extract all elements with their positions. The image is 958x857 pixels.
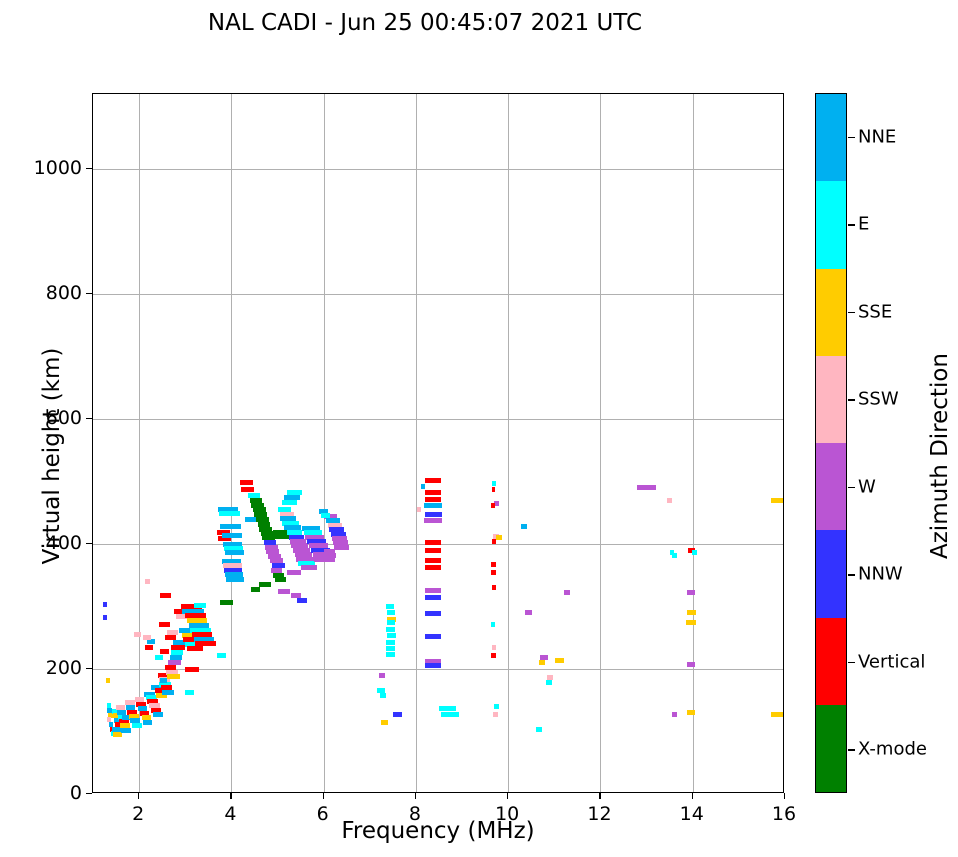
- colorbar-tick-label-ssw: SSW: [858, 389, 899, 410]
- echo-mark: [491, 570, 497, 575]
- echo-mark: [496, 535, 502, 540]
- colorbar-tick: [848, 574, 855, 575]
- colorbar-tick: [848, 137, 855, 138]
- colorbar-tick-label-nne: NNE: [858, 126, 896, 147]
- echo-mark: [380, 693, 386, 698]
- echo-mark: [159, 622, 169, 627]
- echo-mark: [494, 704, 499, 709]
- y-tick-mark: [86, 293, 92, 294]
- echo-mark: [525, 610, 532, 615]
- echo-mark: [491, 562, 497, 567]
- x-axis-label: Frequency (MHz): [92, 818, 784, 844]
- echo-mark: [425, 611, 441, 616]
- echo-mark: [160, 678, 166, 683]
- gridline-horizontal: [93, 419, 783, 420]
- echo-mark: [145, 645, 153, 650]
- gridline-vertical: [324, 94, 325, 792]
- y-tick-mark: [86, 168, 92, 169]
- y-tick-label: 0: [4, 782, 82, 804]
- echo-mark: [492, 481, 497, 486]
- y-tick-label: 1000: [4, 157, 82, 179]
- x-tick-mark: [230, 793, 231, 799]
- echo-mark: [771, 498, 784, 503]
- echo-mark: [637, 485, 655, 490]
- echo-mark: [687, 710, 695, 715]
- echo-mark: [492, 539, 497, 544]
- echo-mark: [441, 712, 459, 717]
- x-tick-mark: [323, 793, 324, 799]
- echo-mark: [491, 503, 496, 508]
- echo-mark: [321, 513, 330, 518]
- echo-mark: [425, 490, 441, 495]
- echo-mark: [386, 646, 394, 651]
- echo-mark: [555, 658, 563, 663]
- echo-mark: [185, 690, 193, 695]
- echo-mark: [168, 660, 181, 665]
- echo-mark: [275, 577, 286, 582]
- x-tick-mark: [692, 793, 693, 799]
- echo-mark: [672, 712, 678, 717]
- colorbar-tick: [848, 312, 855, 313]
- echo-mark: [134, 632, 141, 637]
- echo-mark: [143, 635, 151, 640]
- echo-mark: [771, 712, 784, 717]
- colorbar-segment-vertical: [816, 618, 846, 705]
- y-tick-mark: [86, 543, 92, 544]
- colorbar-tick-label-w: W: [858, 476, 876, 497]
- echo-mark: [387, 633, 395, 638]
- colorbar-segment-nne: [816, 94, 846, 181]
- echo-mark: [387, 620, 394, 625]
- echo-mark: [387, 610, 394, 615]
- colorbar-segment-sse: [816, 269, 846, 356]
- echo-mark: [492, 645, 497, 650]
- echo-mark: [425, 512, 442, 517]
- echo-mark: [334, 545, 349, 550]
- colorbar: [815, 93, 847, 793]
- echo-mark: [439, 706, 456, 711]
- gridline-vertical: [600, 94, 601, 792]
- echo-mark: [417, 507, 422, 512]
- echo-mark: [692, 550, 698, 555]
- echo-mark: [667, 498, 673, 503]
- x-tick-mark: [138, 793, 139, 799]
- echo-mark: [240, 480, 253, 485]
- echo-mark: [493, 712, 499, 717]
- y-tick-label: 800: [4, 282, 82, 304]
- gridline-horizontal: [93, 169, 783, 170]
- y-axis-label: Virtual height (km): [39, 306, 65, 606]
- echo-mark: [103, 615, 107, 620]
- echo-mark: [672, 553, 677, 558]
- gridline-vertical: [139, 94, 140, 792]
- echo-mark: [521, 524, 527, 529]
- echo-mark: [103, 602, 107, 607]
- echo-mark: [165, 635, 176, 640]
- echo-mark: [275, 534, 289, 539]
- echo-mark: [284, 495, 299, 500]
- echo-mark: [492, 585, 497, 590]
- page-title: NAL CADI - Jun 25 00:45:07 2021 UTC: [0, 10, 850, 36]
- echo-mark: [686, 620, 696, 625]
- echo-mark: [297, 598, 307, 603]
- echo-mark: [167, 674, 180, 679]
- echo-mark: [539, 660, 545, 665]
- echo-mark: [222, 533, 241, 538]
- echo-mark: [106, 678, 110, 683]
- echo-mark: [424, 518, 442, 523]
- echo-mark: [282, 500, 297, 505]
- echo-mark: [326, 553, 336, 558]
- echo-mark: [194, 603, 206, 608]
- echo-mark: [491, 653, 497, 658]
- gridline-horizontal: [93, 294, 783, 295]
- echo-mark: [287, 490, 302, 495]
- echo-mark: [687, 590, 695, 595]
- y-tick-mark: [86, 418, 92, 419]
- echo-mark: [393, 712, 402, 717]
- echo-mark: [425, 540, 441, 545]
- echo-mark: [425, 558, 441, 563]
- echo-mark: [225, 550, 244, 555]
- echo-mark: [536, 727, 542, 732]
- colorbar-tick-label-nnw: NNW: [858, 564, 903, 585]
- colorbar-tick: [848, 662, 855, 663]
- echo-mark: [217, 653, 226, 658]
- x-tick-mark: [784, 793, 785, 799]
- echo-mark: [386, 652, 394, 657]
- colorbar-segment-x-mode: [816, 705, 846, 792]
- gridline-vertical: [416, 94, 417, 792]
- colorbar-tick-label-vertical: Vertical: [858, 651, 925, 672]
- echo-mark: [220, 524, 240, 529]
- colorbar-segment-e: [816, 181, 846, 268]
- echo-mark: [153, 712, 163, 717]
- echo-mark: [425, 663, 441, 668]
- echo-mark: [425, 548, 441, 553]
- x-tick-mark: [507, 793, 508, 799]
- echo-mark: [167, 630, 178, 635]
- gridline-vertical: [231, 94, 232, 792]
- echo-mark: [143, 720, 152, 725]
- echo-mark: [219, 511, 239, 516]
- echo-mark: [564, 590, 570, 595]
- x-tick-mark: [415, 793, 416, 799]
- echo-mark: [259, 582, 271, 587]
- gridline-vertical: [508, 94, 509, 792]
- echo-mark: [132, 723, 142, 728]
- gridline-vertical: [693, 94, 694, 792]
- echo-mark: [171, 650, 183, 655]
- colorbar-tick-label-x-mode: X-mode: [858, 739, 927, 760]
- echo-mark: [147, 639, 155, 644]
- echo-mark: [155, 655, 163, 660]
- echo-mark: [492, 487, 496, 492]
- colorbar-segment-nnw: [816, 530, 846, 617]
- echo-mark: [162, 690, 174, 695]
- echo-mark: [425, 497, 441, 502]
- echo-mark: [241, 487, 255, 492]
- echo-mark: [386, 604, 393, 609]
- echo-mark: [301, 565, 318, 570]
- echo-mark: [425, 478, 441, 483]
- echo-mark: [187, 646, 203, 651]
- echo-mark: [170, 655, 182, 660]
- echo-mark: [386, 640, 394, 645]
- y-tick-mark: [86, 668, 92, 669]
- echo-mark: [160, 649, 168, 654]
- colorbar-tick-label-sse: SSE: [858, 301, 892, 322]
- plot-area: [92, 93, 784, 793]
- colorbar-tick: [848, 399, 855, 400]
- colorbar-segment-w: [816, 443, 846, 530]
- echo-mark: [195, 641, 215, 646]
- y-tick-label: 200: [4, 657, 82, 679]
- echo-mark: [171, 645, 185, 650]
- colorbar-tick-label-e: E: [858, 214, 869, 235]
- echo-mark: [687, 662, 695, 667]
- echo-mark: [381, 720, 388, 725]
- colorbar-tick: [848, 487, 855, 488]
- echo-mark: [145, 579, 151, 584]
- echo-mark: [185, 667, 199, 672]
- echo-mark: [386, 627, 394, 632]
- echo-mark: [160, 593, 171, 598]
- echo-mark: [226, 577, 244, 582]
- echo-mark: [379, 673, 385, 678]
- echo-mark: [220, 600, 233, 605]
- echo-mark: [251, 587, 260, 592]
- echo-mark: [287, 570, 301, 575]
- echo-mark: [424, 503, 442, 508]
- y-tick-mark: [86, 793, 92, 794]
- echo-mark: [425, 565, 441, 570]
- echo-mark: [425, 595, 441, 600]
- colorbar-tick: [848, 749, 855, 750]
- ionogram-figure: NAL CADI - Jun 25 00:45:07 2021 UTC 2468…: [0, 0, 958, 857]
- echo-mark: [687, 610, 696, 615]
- x-tick-mark: [599, 793, 600, 799]
- colorbar-label: Azimuth Direction: [927, 306, 953, 606]
- colorbar-tick: [848, 224, 855, 225]
- echo-mark: [121, 728, 131, 733]
- echo-mark: [546, 680, 552, 685]
- echo-mark: [491, 622, 496, 627]
- echo-mark: [421, 484, 426, 489]
- echo-mark: [425, 588, 441, 593]
- echo-mark: [278, 589, 291, 594]
- echo-mark: [425, 634, 441, 639]
- colorbar-segment-ssw: [816, 356, 846, 443]
